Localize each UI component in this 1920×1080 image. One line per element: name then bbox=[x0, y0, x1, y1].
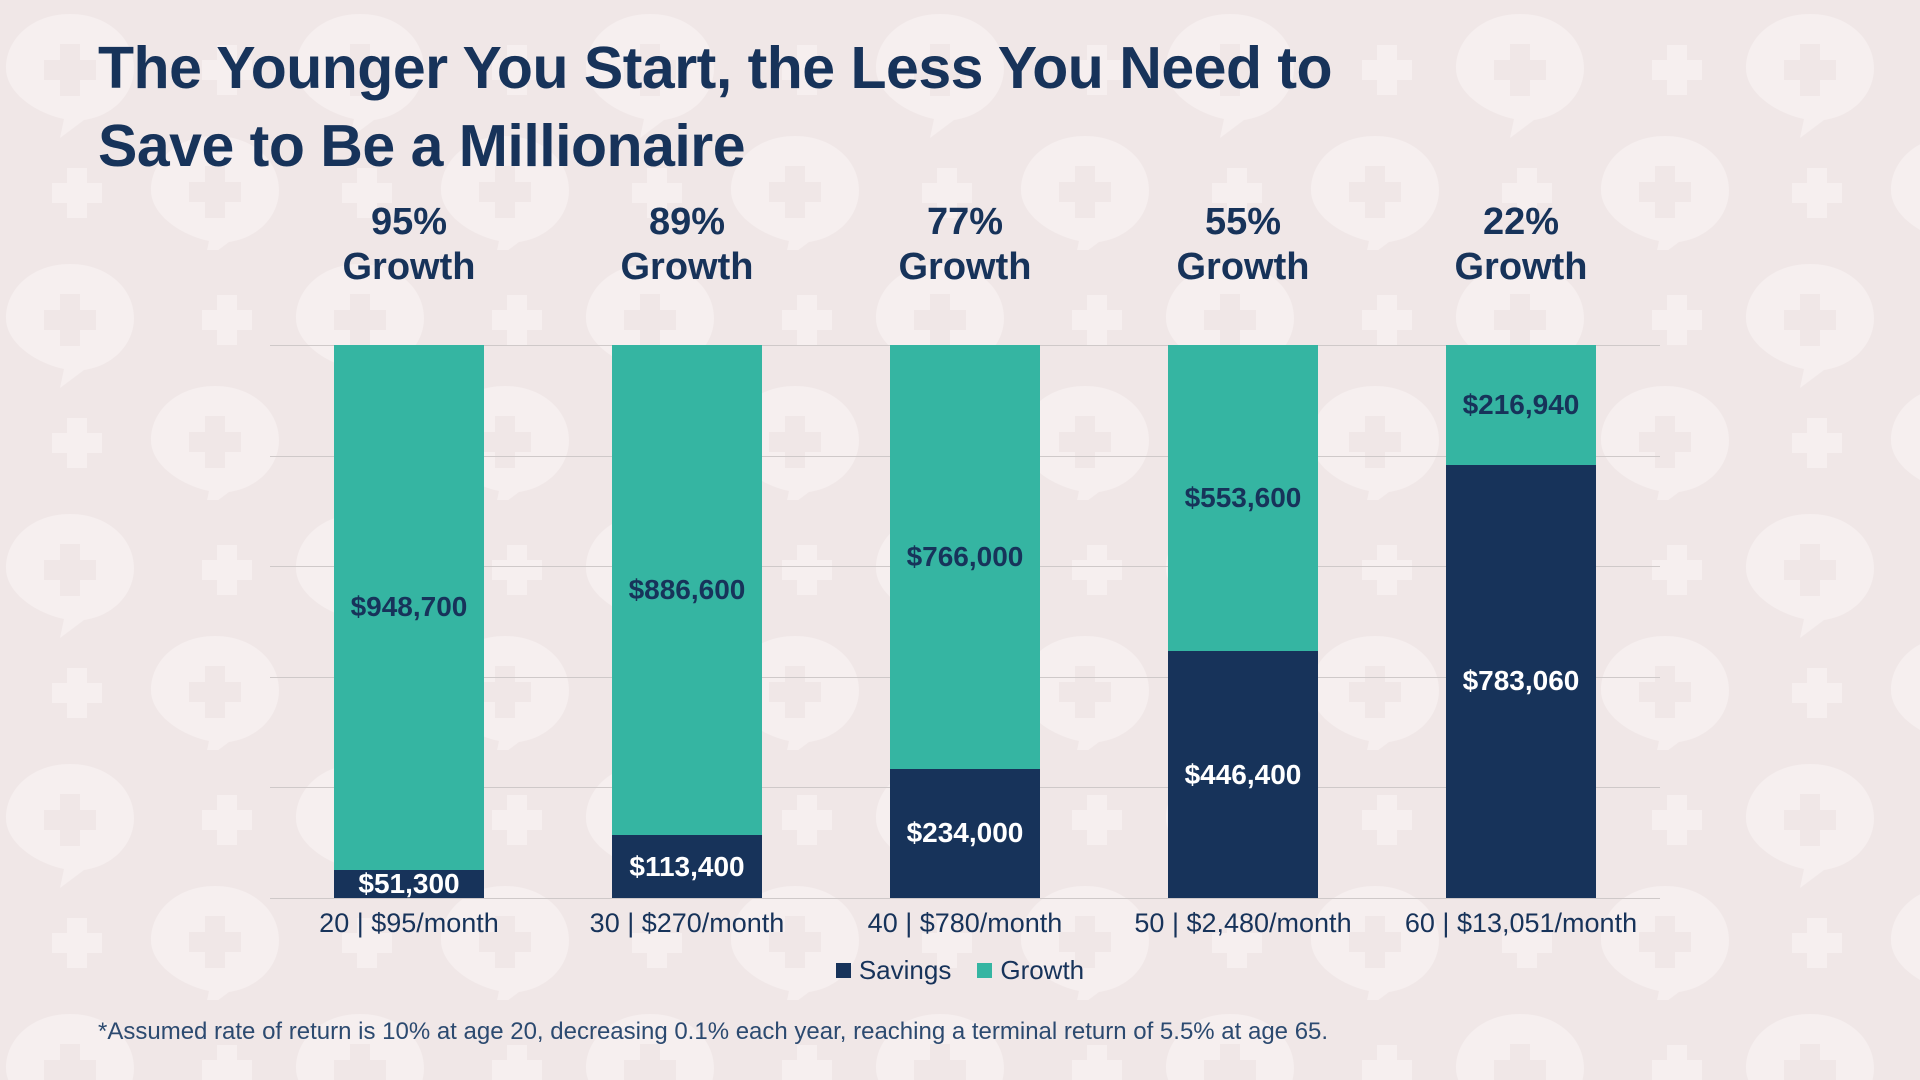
bar-column[interactable]: 22% Growth$216,940$783,06060 | $13,051/m… bbox=[1446, 345, 1596, 898]
bar-segment-savings[interactable]: $113,400 bbox=[612, 835, 762, 898]
bar-value-label-growth: $766,000 bbox=[907, 541, 1024, 573]
legend-swatch-savings bbox=[836, 963, 851, 978]
chart-footnote: *Assumed rate of return is 10% at age 20… bbox=[98, 1018, 1328, 1046]
bar-segment-savings[interactable]: $234,000 bbox=[890, 769, 1040, 898]
bar-segment-savings[interactable]: $783,060 bbox=[1446, 465, 1596, 898]
growth-percent-annotation: 89% Growth bbox=[547, 200, 827, 290]
bar-value-label-savings: $446,400 bbox=[1185, 759, 1302, 791]
legend-item-growth[interactable]: Growth bbox=[977, 955, 1084, 986]
bar-segment-growth[interactable]: $948,700 bbox=[334, 345, 484, 870]
bar-value-label-growth: $553,600 bbox=[1185, 482, 1302, 514]
gridline bbox=[270, 898, 1660, 899]
bar-value-label-growth: $216,940 bbox=[1463, 389, 1580, 421]
growth-percent-annotation: 55% Growth bbox=[1103, 200, 1383, 290]
bar-segment-growth[interactable]: $216,940 bbox=[1446, 345, 1596, 465]
x-axis-tick-label: 60 | $13,051/month bbox=[1351, 908, 1691, 939]
bar-segment-savings[interactable]: $51,300 bbox=[334, 870, 484, 898]
page-title: The Younger You Start, the Less You Need… bbox=[98, 30, 1438, 186]
bar-column[interactable]: 77% Growth$766,000$234,00040 | $780/mont… bbox=[890, 345, 1040, 898]
legend-label-growth: Growth bbox=[1000, 955, 1084, 986]
bar-segment-savings[interactable]: $446,400 bbox=[1168, 651, 1318, 898]
bar-column[interactable]: 55% Growth$553,600$446,40050 | $2,480/mo… bbox=[1168, 345, 1318, 898]
growth-percent-annotation: 95% Growth bbox=[269, 200, 549, 290]
bar-value-label-savings: $783,060 bbox=[1463, 665, 1580, 697]
bar-segment-growth[interactable]: $553,600 bbox=[1168, 345, 1318, 651]
bar-value-label-savings: $51,300 bbox=[358, 868, 459, 900]
growth-percent-annotation: 22% Growth bbox=[1381, 200, 1661, 290]
bar-value-label-savings: $113,400 bbox=[629, 851, 744, 883]
legend-item-savings[interactable]: Savings bbox=[836, 955, 952, 986]
chart-legend: Savings Growth bbox=[0, 955, 1920, 986]
chart-plot-area: $1,000,000$800,000$600,000$400,000$200,0… bbox=[270, 345, 1660, 898]
bar-segment-growth[interactable]: $886,600 bbox=[612, 345, 762, 835]
bar-value-label-growth: $886,600 bbox=[629, 574, 746, 606]
bar-column[interactable]: 95% Growth$948,700$51,30020 | $95/month bbox=[334, 345, 484, 898]
bar-value-label-savings: $234,000 bbox=[907, 817, 1024, 849]
bar-value-label-growth: $948,700 bbox=[351, 591, 468, 623]
legend-swatch-growth bbox=[977, 963, 992, 978]
growth-percent-annotation: 77% Growth bbox=[825, 200, 1105, 290]
legend-label-savings: Savings bbox=[859, 955, 952, 986]
bar-segment-growth[interactable]: $766,000 bbox=[890, 345, 1040, 769]
bar-column[interactable]: 89% Growth$886,600$113,40030 | $270/mont… bbox=[612, 345, 762, 898]
